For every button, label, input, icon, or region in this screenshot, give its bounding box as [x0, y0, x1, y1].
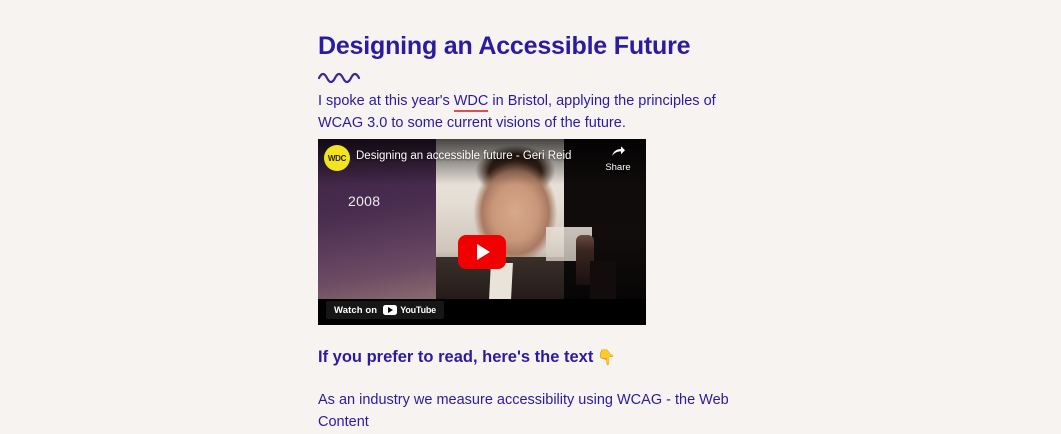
- share-label: Share: [598, 162, 638, 173]
- wdc-channel-logo-icon[interactable]: WDC: [324, 145, 350, 171]
- youtube-play-rect-icon: [383, 305, 397, 315]
- watch-on-label: Watch on: [334, 305, 377, 316]
- youtube-video-embed[interactable]: 2008 WDC Designing an accessible future …: [318, 139, 646, 325]
- play-triangle-icon: [477, 244, 490, 260]
- video-title[interactable]: Designing an accessible future - Geri Re…: [356, 150, 571, 162]
- intro-text-before: I spoke at this year's: [318, 93, 454, 109]
- body-paragraph: As an industry we measure accessibility …: [318, 389, 738, 434]
- video-slide-year: 2008: [348, 193, 380, 209]
- share-arrow-icon: [598, 145, 638, 160]
- page-title: Designing an Accessible Future: [318, 32, 690, 61]
- youtube-play-triangle-icon: [388, 307, 393, 313]
- wdc-link[interactable]: WDC: [454, 93, 489, 112]
- intro-paragraph: I spoke at this year's WDC in Bristol, a…: [318, 90, 718, 135]
- youtube-logo-icon: YouTube: [383, 305, 436, 315]
- read-the-text-heading: If you prefer to read, here's the text👇: [318, 348, 616, 367]
- video-top-scrim: [318, 139, 646, 185]
- share-button[interactable]: Share: [598, 145, 638, 173]
- page-root: Designing an Accessible Future I spoke a…: [0, 0, 1061, 408]
- read-the-text-heading-label: If you prefer to read, here's the text: [318, 348, 593, 366]
- squiggle-divider-icon: [318, 68, 364, 84]
- video-stage-podium: [590, 261, 616, 299]
- youtube-wordmark: YouTube: [400, 305, 436, 315]
- play-button-icon[interactable]: [458, 235, 506, 269]
- pointing-down-emoji-icon: 👇: [597, 349, 616, 366]
- watch-on-youtube-button[interactable]: Watch on YouTube: [326, 301, 444, 319]
